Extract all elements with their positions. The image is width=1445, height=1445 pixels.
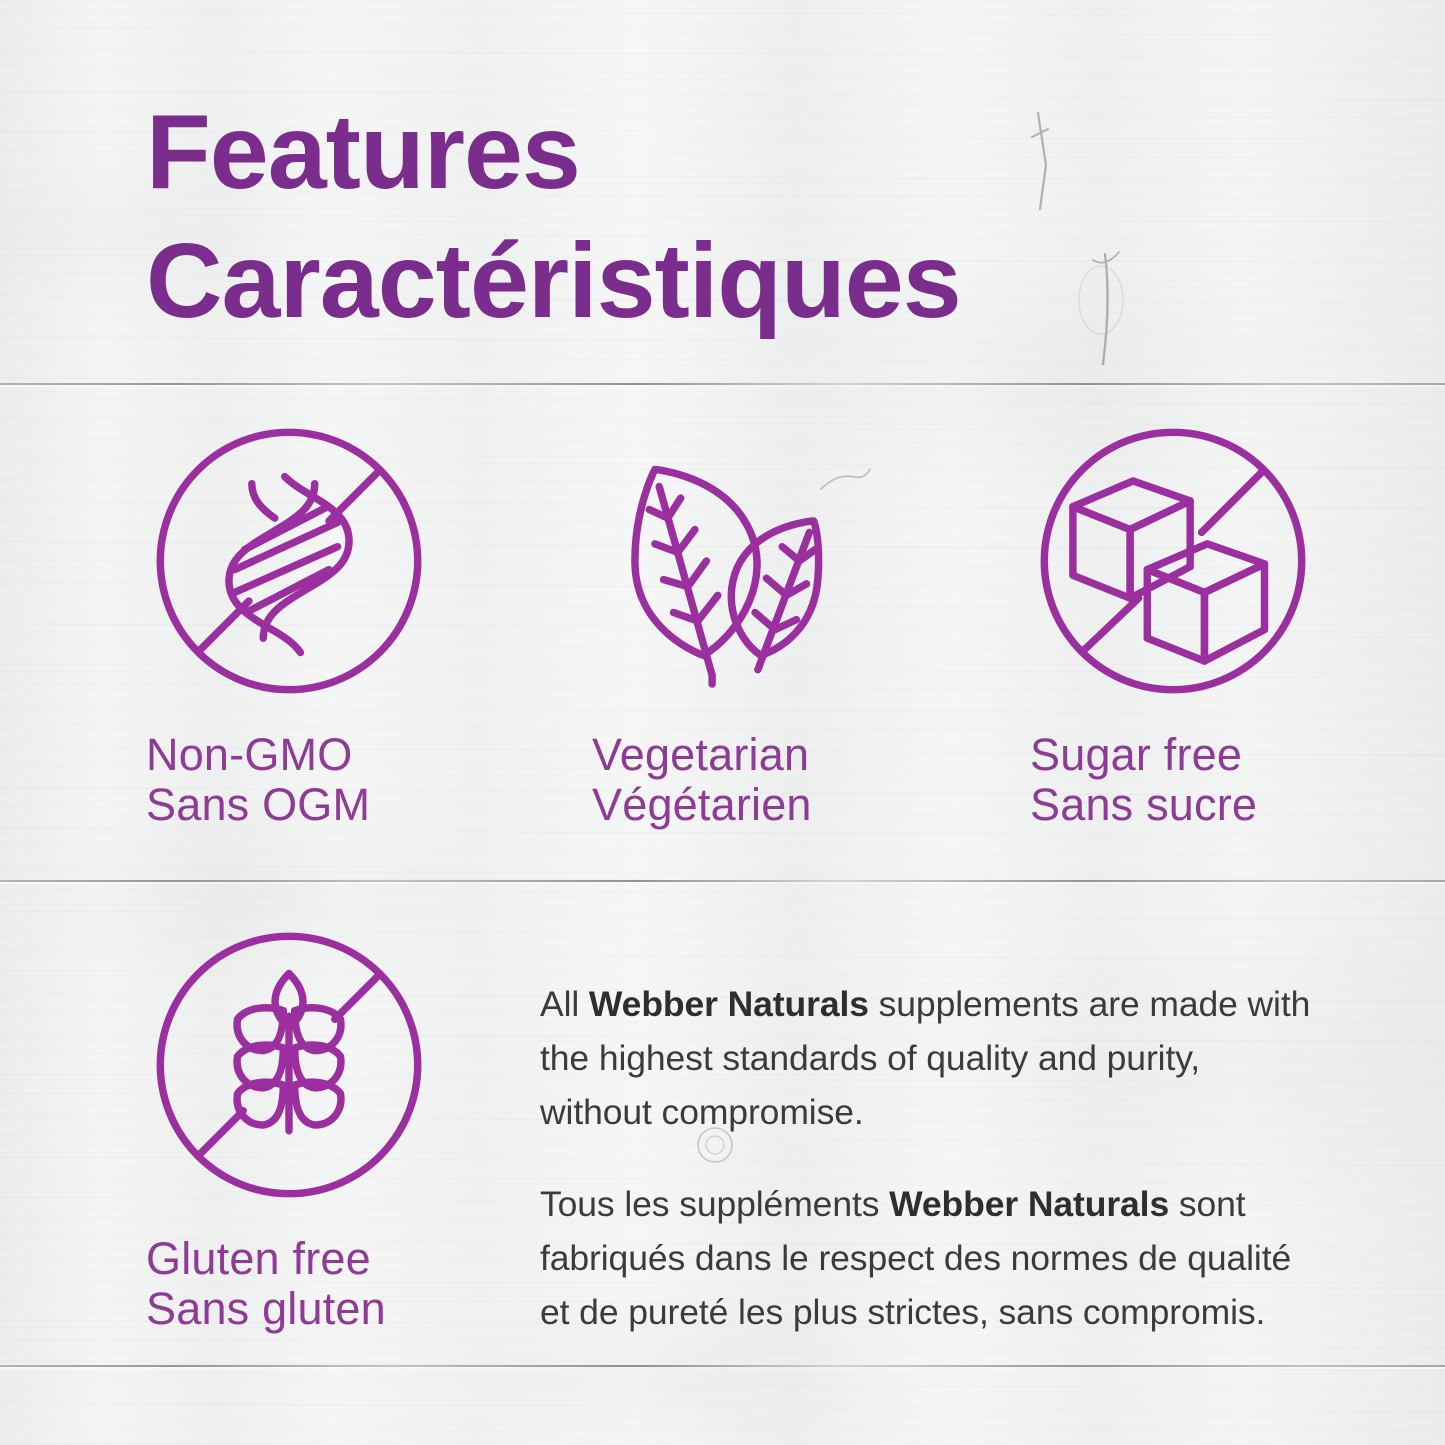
page-title: Features Caractéristiques bbox=[146, 88, 961, 347]
feature-label: Non-GMO Sans OGM bbox=[146, 730, 476, 831]
paragraph-en: All Webber Naturals supplements are made… bbox=[540, 978, 1315, 1140]
feature-label: Sugar free Sans sucre bbox=[1030, 730, 1360, 831]
feature-sugar-free: Sugar free Sans sucre bbox=[1030, 418, 1360, 831]
no-sugar-cubes-icon bbox=[1030, 418, 1360, 708]
feature-gluten-free: Gluten free Sans gluten bbox=[146, 922, 476, 1335]
feature-panel: Features Caractéristiques bbox=[0, 0, 1445, 1445]
feature-label-fr: Sans OGM bbox=[146, 780, 476, 830]
feature-vegetarian: Vegetarian Végétarien bbox=[592, 418, 922, 831]
body-copy: All Webber Naturals supplements are made… bbox=[540, 978, 1315, 1340]
feature-label-en: Sugar free bbox=[1030, 729, 1242, 780]
paragraph-en-before: All bbox=[540, 984, 589, 1024]
feature-label: Vegetarian Végétarien bbox=[592, 730, 922, 831]
feature-label-fr: Sans gluten bbox=[146, 1284, 476, 1334]
brand-name-en: Webber Naturals bbox=[589, 984, 869, 1024]
no-gmo-dna-icon bbox=[146, 418, 476, 708]
feature-label-en: Non-GMO bbox=[146, 729, 352, 780]
page-title-en: Features bbox=[146, 93, 580, 211]
two-leaves-icon bbox=[592, 418, 922, 708]
feature-label-en: Vegetarian bbox=[592, 729, 809, 780]
page-title-fr: Caractéristiques bbox=[146, 217, 961, 346]
feature-label-fr: Sans sucre bbox=[1030, 780, 1360, 830]
paragraph-fr-before: Tous les suppléments bbox=[540, 1184, 889, 1224]
feature-label-en: Gluten free bbox=[146, 1233, 371, 1284]
no-wheat-icon bbox=[146, 922, 476, 1212]
feature-label: Gluten free Sans gluten bbox=[146, 1234, 476, 1335]
brand-name-fr: Webber Naturals bbox=[889, 1184, 1169, 1224]
paragraph-fr: Tous les suppléments Webber Naturals son… bbox=[540, 1178, 1315, 1340]
feature-non-gmo: Non-GMO Sans OGM bbox=[146, 418, 476, 831]
feature-label-fr: Végétarien bbox=[592, 780, 922, 830]
